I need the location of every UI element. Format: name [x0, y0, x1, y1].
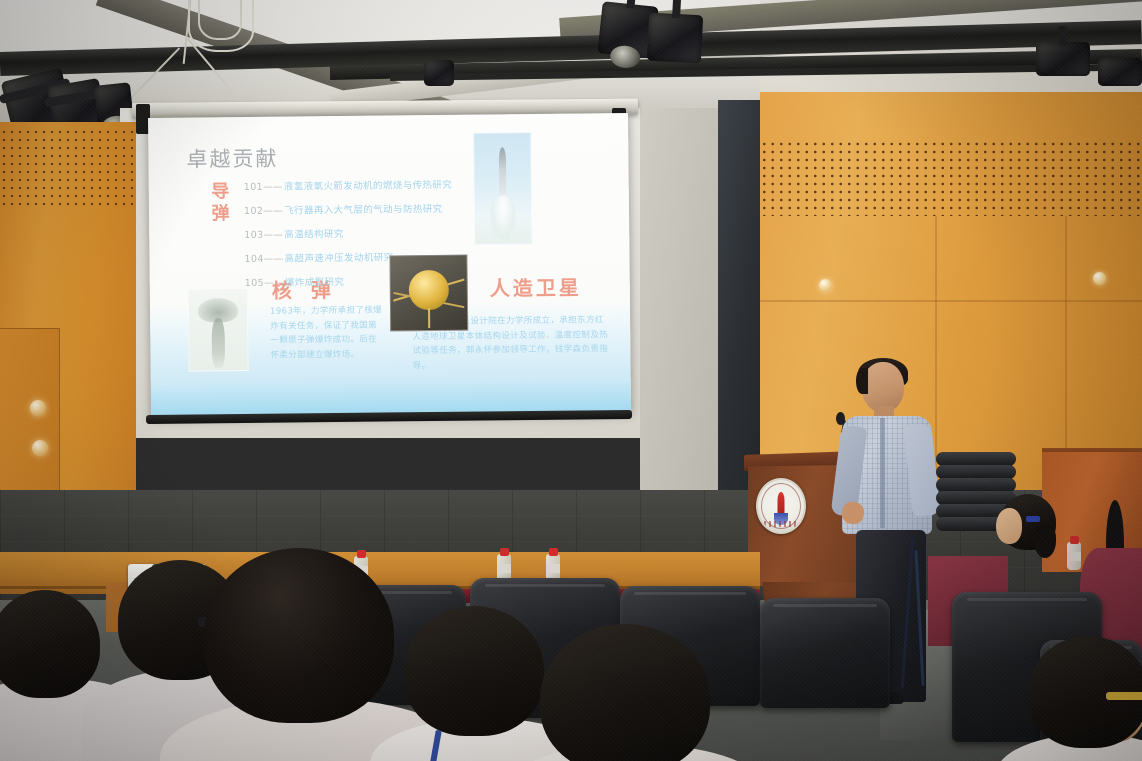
stage-light-icon	[1098, 58, 1142, 86]
cable-coil	[198, 0, 242, 40]
perforated-acoustic-holes	[0, 128, 136, 206]
wall-lamp-icon	[1093, 272, 1106, 285]
institute-emblem-icon	[756, 478, 806, 534]
presenter-hair-side	[856, 368, 868, 394]
water-bottle[interactable]	[1067, 536, 1081, 570]
water-bottle[interactable]	[497, 548, 511, 582]
slide-paragraph-nuclear: 1963年，力学所承担了核爆炸有关任务，保证了我国第一颗原子弹爆炸成功。后在怀柔…	[270, 304, 385, 363]
slide-category-satellite: 人造卫星	[490, 271, 582, 301]
bullet-text: 液氢液氧火箭发动机的燃烧与传热研究	[284, 180, 452, 193]
bullet-number: 102——	[244, 206, 283, 217]
stage-light-icon	[1036, 42, 1090, 76]
projection-screen: 卓越贡献 导弹 核 弹 人造卫星 101——液氢液氧火箭发动机的燃烧与传热研究 …	[148, 113, 631, 418]
glasses-icon	[1106, 692, 1142, 700]
lecture-hall-photo: 卓越贡献 导弹 核 弹 人造卫星 101——液氢液氧火箭发动机的燃烧与传热研究 …	[0, 0, 1142, 761]
stage-light-icon	[647, 13, 703, 64]
bullet-number: 105——	[245, 278, 284, 289]
wall-lamp-icon	[30, 400, 46, 416]
auditorium-seat[interactable]	[760, 598, 890, 708]
list-item: 101——液氢液氧火箭发动机的燃烧与传热研究	[244, 177, 453, 193]
bullet-text: 高超声速冲压发动机研究	[285, 252, 394, 264]
satellite-image	[389, 255, 468, 332]
bullet-number: 104——	[244, 254, 283, 265]
water-bottle[interactable]	[546, 548, 560, 582]
audience-member	[520, 624, 740, 761]
hair-clip	[1026, 516, 1040, 522]
bullet-number: 101——	[244, 182, 283, 193]
wall-dark-column	[718, 100, 762, 500]
slide-title: 卓越贡献	[186, 143, 278, 174]
wall-lamp-icon	[819, 279, 832, 292]
stage-light-icon	[424, 60, 454, 86]
mushroom-cloud-image	[188, 289, 249, 372]
wall-light-strip	[640, 108, 720, 498]
bullet-text: 高温结构研究	[284, 229, 344, 241]
wall-lamp-icon	[32, 440, 48, 456]
list-item: 103——高温结构研究	[244, 225, 453, 241]
rocket-launch-image	[473, 132, 532, 245]
wall-seam	[760, 300, 1142, 302]
bullet-number: 103——	[244, 230, 283, 241]
audience-member	[1010, 636, 1142, 761]
presenter-shirt-placket	[880, 418, 885, 528]
list-item: 102——飞行器再入大气层的气动与防热研究	[244, 201, 453, 217]
bullet-text: 爆炸成型研究	[285, 277, 345, 289]
presenter-head	[862, 362, 904, 412]
perforated-acoustic-holes	[760, 140, 1142, 216]
bullet-text: 飞行器再入大气层的气动与防热研究	[284, 204, 443, 217]
slide-category-missile: 导弹	[209, 181, 233, 225]
